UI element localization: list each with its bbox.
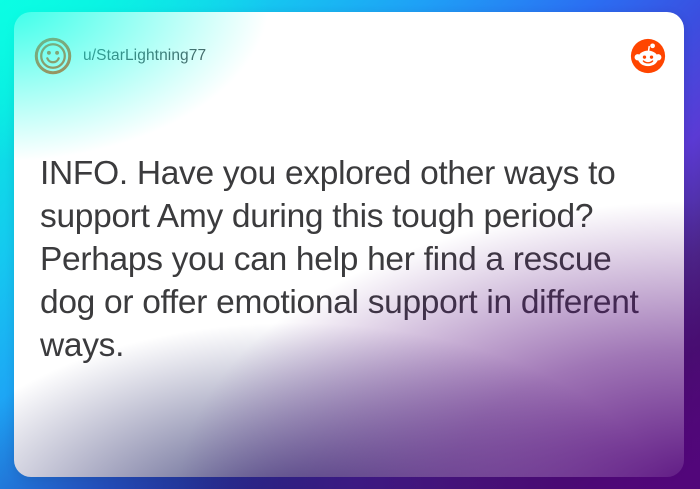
reddit-snoo-icon[interactable] (630, 38, 666, 74)
gradient-background: u/StarLightning77 INFO. Have you (0, 0, 700, 489)
post-header: u/StarLightning77 (14, 12, 684, 100)
avatar[interactable] (34, 37, 72, 75)
smiley-face-avatar-icon (34, 37, 72, 75)
reddit-post-card: u/StarLightning77 INFO. Have you (14, 12, 684, 477)
post-text: INFO. Have you explored other ways to su… (40, 152, 664, 367)
post-body: INFO. Have you explored other ways to su… (40, 152, 664, 367)
username-label: u/StarLightning77 (83, 47, 206, 65)
